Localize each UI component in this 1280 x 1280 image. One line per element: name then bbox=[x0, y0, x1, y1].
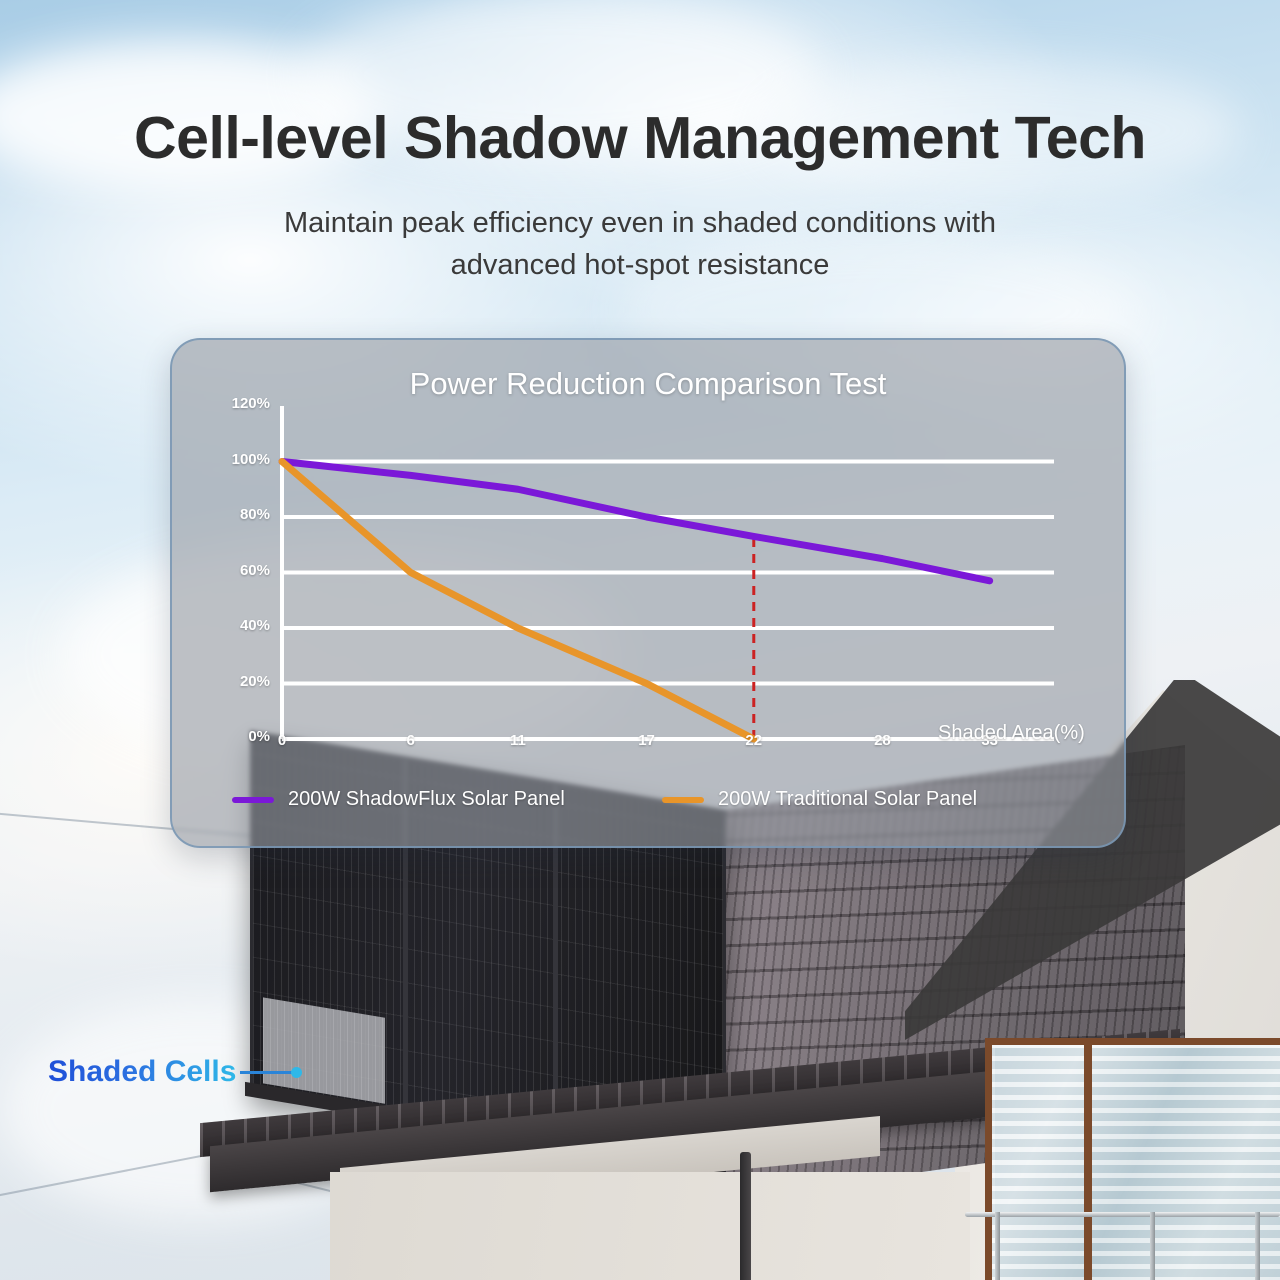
subtitle-line-2: advanced hot-spot resistance bbox=[0, 244, 1280, 286]
downspout bbox=[740, 1152, 751, 1280]
chart-legend: 200W ShadowFlux Solar Panel200W Traditio… bbox=[232, 788, 1092, 818]
railing-post bbox=[995, 1212, 1000, 1280]
callout-endpoint-dot bbox=[291, 1067, 302, 1078]
chart-legend-label: 200W ShadowFlux Solar Panel bbox=[288, 788, 565, 811]
poster-stage: Cell-level Shadow Management Tech Mainta… bbox=[0, 0, 1280, 1280]
chart-legend-swatch bbox=[662, 797, 704, 803]
chart-x-tick-label: 22 bbox=[734, 732, 774, 749]
chart-legend-swatch bbox=[232, 797, 274, 803]
chart-plot-area bbox=[172, 340, 1124, 846]
railing-bar bbox=[965, 1212, 1280, 1217]
chart-panel: Power Reduction Comparison Test 0%20%40%… bbox=[170, 338, 1126, 848]
chart-legend-item: 200W ShadowFlux Solar Panel bbox=[232, 788, 565, 811]
chart-y-tick-label: 80% bbox=[208, 506, 270, 523]
callout-connector-line bbox=[240, 1071, 292, 1074]
railing-post bbox=[1150, 1212, 1155, 1280]
lower-wall bbox=[330, 1172, 970, 1280]
shaded-cells-callout: Shaded Cells bbox=[48, 1055, 302, 1089]
page-title: Cell-level Shadow Management Tech bbox=[0, 104, 1280, 172]
chart-legend-label: 200W Traditional Solar Panel bbox=[718, 788, 977, 811]
chart-x-tick-label: 11 bbox=[498, 732, 538, 749]
shaded-cells-label: Shaded Cells bbox=[48, 1055, 236, 1089]
house-photo bbox=[0, 780, 1280, 1280]
chart-y-tick-label: 20% bbox=[208, 673, 270, 690]
chart-y-tick-label: 60% bbox=[208, 562, 270, 579]
chart-svg bbox=[172, 340, 1124, 846]
chart-x-tick-label: 28 bbox=[862, 732, 902, 749]
railing-post bbox=[1255, 1212, 1260, 1280]
chart-y-tick-label: 100% bbox=[208, 451, 270, 468]
chart-x-tick-label: 0 bbox=[262, 732, 302, 749]
page-subtitle: Maintain peak efficiency even in shaded … bbox=[0, 202, 1280, 286]
chart-x-tick-label: 6 bbox=[391, 732, 431, 749]
chart-y-tick-label: 120% bbox=[208, 395, 270, 412]
chart-y-tick-label: 0% bbox=[208, 728, 270, 745]
subtitle-line-1: Maintain peak efficiency even in shaded … bbox=[0, 202, 1280, 244]
chart-legend-item: 200W Traditional Solar Panel bbox=[662, 788, 977, 811]
chart-y-tick-label: 40% bbox=[208, 617, 270, 634]
balcony-railing bbox=[965, 1212, 1280, 1280]
chart-x-tick-label: 17 bbox=[627, 732, 667, 749]
chart-x-axis-label: Shaded Area(%) bbox=[938, 722, 1085, 745]
